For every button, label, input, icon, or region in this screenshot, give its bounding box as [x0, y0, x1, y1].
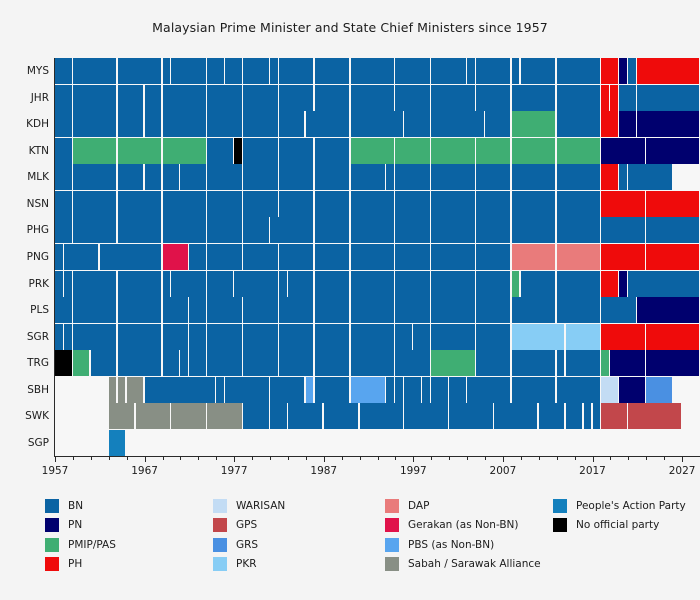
timeline-segment[interactable] — [386, 377, 394, 403]
timeline-segment[interactable] — [512, 58, 520, 84]
timeline-segment[interactable] — [646, 350, 698, 376]
timeline-segment[interactable] — [189, 350, 206, 376]
timeline-segment[interactable] — [163, 164, 180, 190]
timeline-segment[interactable] — [521, 58, 555, 84]
timeline-row-png — [55, 244, 700, 270]
y-axis-tick-label-mlk: MLK — [0, 164, 49, 190]
timeline-segment[interactable] — [207, 297, 241, 323]
timeline-segment[interactable] — [476, 350, 510, 376]
timeline-segment[interactable] — [476, 58, 510, 84]
timeline-segment[interactable] — [351, 297, 394, 323]
timeline-segment[interactable] — [243, 164, 277, 190]
timeline-segment[interactable] — [395, 297, 429, 323]
timeline-segment[interactable] — [73, 271, 116, 297]
timeline-segment[interactable] — [109, 403, 134, 429]
timeline-segment[interactable] — [395, 244, 429, 270]
legend-item[interactable]: PH — [45, 555, 116, 575]
timeline-segment[interactable] — [395, 138, 429, 164]
timeline-segment[interactable] — [315, 164, 349, 190]
timeline-segment[interactable] — [637, 58, 698, 84]
x-axis-minor-tick — [646, 457, 647, 460]
timeline-segment[interactable] — [163, 217, 206, 243]
legend-item[interactable]: WARISAN — [213, 496, 285, 516]
timeline-segment[interactable] — [315, 85, 349, 111]
timeline-segment[interactable] — [118, 191, 161, 217]
timeline-segment[interactable] — [207, 403, 241, 429]
timeline-segment[interactable] — [601, 271, 618, 297]
timeline-segment[interactable] — [163, 324, 188, 350]
timeline-segment[interactable] — [637, 111, 698, 137]
timeline-segment[interactable] — [163, 138, 206, 164]
timeline-segment[interactable] — [395, 377, 403, 403]
legend-item[interactable]: PMIP/PAS — [45, 535, 116, 555]
timeline-segment[interactable] — [351, 111, 403, 137]
timeline-segment[interactable] — [243, 217, 268, 243]
timeline-segment[interactable] — [145, 377, 215, 403]
timeline-segment[interactable] — [351, 58, 394, 84]
timeline-segment[interactable] — [601, 297, 635, 323]
timeline-segment[interactable] — [288, 403, 322, 429]
timeline-segment[interactable] — [539, 403, 564, 429]
timeline-segment[interactable] — [431, 217, 474, 243]
timeline-segment[interactable] — [395, 85, 429, 111]
timeline-segment[interactable] — [467, 377, 510, 403]
timeline-segment[interactable] — [234, 138, 242, 164]
timeline-segment[interactable] — [315, 271, 349, 297]
timeline-segment[interactable] — [145, 164, 162, 190]
timeline-segment[interactable] — [234, 271, 277, 297]
timeline-segment[interactable] — [485, 111, 510, 137]
legend-item[interactable]: Sabah / Sarawak Alliance — [385, 555, 541, 575]
timeline-segment[interactable] — [512, 191, 555, 217]
timeline-segment[interactable] — [494, 403, 537, 429]
timeline-segment[interactable] — [601, 350, 609, 376]
timeline-segment[interactable] — [431, 297, 474, 323]
timeline-segment[interactable] — [64, 271, 72, 297]
timeline-segment[interactable] — [306, 377, 314, 403]
timeline-segment[interactable] — [646, 377, 671, 403]
timeline-segment[interactable] — [619, 58, 627, 84]
timeline-segment[interactable] — [646, 217, 698, 243]
timeline-segment[interactable] — [55, 111, 72, 137]
legend-item-label: PKR — [236, 558, 257, 570]
timeline-segment[interactable] — [476, 191, 510, 217]
timeline-segment[interactable] — [557, 164, 600, 190]
timeline-segment[interactable] — [118, 164, 143, 190]
timeline-segment[interactable] — [55, 164, 72, 190]
timeline-segment[interactable] — [163, 85, 206, 111]
timeline-segment[interactable] — [512, 297, 555, 323]
timeline-segment[interactable] — [386, 164, 394, 190]
timeline-segment[interactable] — [315, 244, 349, 270]
timeline-segment[interactable] — [584, 403, 592, 429]
timeline-segment[interactable] — [180, 350, 188, 376]
timeline-segment[interactable] — [279, 350, 313, 376]
timeline-segment[interactable] — [601, 377, 618, 403]
timeline-segment[interactable] — [467, 58, 475, 84]
timeline-segment[interactable] — [512, 85, 555, 111]
timeline-segment[interactable] — [315, 191, 349, 217]
timeline-segment[interactable] — [637, 297, 698, 323]
timeline-segment[interactable] — [118, 138, 161, 164]
timeline-segment[interactable] — [619, 377, 644, 403]
timeline-segment[interactable] — [279, 58, 313, 84]
legend-item[interactable]: BN — [45, 496, 116, 516]
timeline-segment[interactable] — [431, 164, 474, 190]
timeline-segment[interactable] — [431, 350, 474, 376]
timeline-segment[interactable] — [557, 244, 600, 270]
timeline-segment[interactable] — [207, 111, 241, 137]
legend-item[interactable]: GRS — [213, 535, 285, 555]
timeline-segment[interactable] — [118, 324, 161, 350]
timeline-segment[interactable] — [279, 138, 313, 164]
timeline-segment[interactable] — [315, 58, 349, 84]
timeline-segment[interactable] — [118, 111, 143, 137]
timeline-segment[interactable] — [118, 217, 161, 243]
timeline-segment[interactable] — [73, 138, 116, 164]
timeline-segment[interactable] — [646, 244, 698, 270]
timeline-segment[interactable] — [118, 58, 161, 84]
timeline-segment[interactable] — [91, 350, 116, 376]
timeline-segment[interactable] — [646, 191, 698, 217]
timeline-segment[interactable] — [279, 297, 313, 323]
timeline-segment[interactable] — [243, 324, 277, 350]
timeline-segment[interactable] — [55, 138, 72, 164]
timeline-segment[interactable] — [476, 85, 510, 111]
timeline-segment[interactable] — [163, 297, 188, 323]
timeline-segment[interactable] — [279, 111, 304, 137]
timeline-segment[interactable] — [395, 217, 429, 243]
timeline-segment[interactable] — [476, 138, 510, 164]
timeline-segment[interactable] — [557, 350, 565, 376]
legend-item-label: DAP — [408, 500, 429, 512]
x-axis-minor-tick — [557, 457, 558, 460]
timeline-segment[interactable] — [171, 403, 205, 429]
timeline-segment[interactable] — [279, 271, 287, 297]
legend-item-label: People's Action Party — [576, 500, 686, 512]
timeline-segment[interactable] — [601, 244, 644, 270]
timeline-segment[interactable] — [601, 324, 644, 350]
x-axis-minor-tick — [628, 457, 629, 460]
timeline-segment[interactable] — [127, 377, 144, 403]
timeline-segment[interactable] — [73, 350, 90, 376]
x-axis-minor-tick — [306, 457, 307, 460]
x-axis-tick-label: 1967 — [131, 465, 158, 477]
timeline-segment[interactable] — [601, 111, 618, 137]
timeline-segment[interactable] — [55, 217, 72, 243]
timeline-segment[interactable] — [207, 350, 241, 376]
timeline-segment[interactable] — [395, 164, 429, 190]
timeline-segment[interactable] — [73, 217, 116, 243]
legend-item[interactable]: Gerakan (as Non-BN) — [385, 516, 541, 536]
timeline-segment[interactable] — [189, 324, 206, 350]
timeline-segment[interactable] — [449, 403, 492, 429]
timeline-segment[interactable] — [512, 324, 564, 350]
timeline-segment[interactable] — [395, 271, 429, 297]
timeline-segment[interactable] — [118, 271, 161, 297]
timeline-segment[interactable] — [512, 350, 555, 376]
timeline-segment[interactable] — [557, 271, 600, 297]
timeline-segment[interactable] — [476, 244, 510, 270]
timeline-segment[interactable] — [243, 191, 277, 217]
timeline-segment[interactable] — [619, 164, 627, 190]
timeline-segment[interactable] — [243, 138, 277, 164]
timeline-segment[interactable] — [566, 403, 583, 429]
timeline-segment[interactable] — [118, 377, 126, 403]
timeline-segment[interactable] — [163, 244, 188, 270]
timeline-segment[interactable] — [55, 85, 72, 111]
timeline-segment[interactable] — [324, 403, 358, 429]
timeline-row-nsn — [55, 191, 700, 217]
timeline-segment[interactable] — [315, 324, 349, 350]
timeline-segment[interactable] — [315, 377, 349, 403]
timeline-segment[interactable] — [145, 85, 162, 111]
timeline-segment[interactable] — [315, 217, 349, 243]
timeline-segment[interactable] — [171, 271, 205, 297]
timeline-segment[interactable] — [601, 403, 626, 429]
timeline-segment[interactable] — [64, 244, 98, 270]
timeline-segment[interactable] — [351, 217, 394, 243]
timeline-segment[interactable] — [601, 217, 644, 243]
timeline-segment[interactable] — [637, 85, 698, 111]
timeline-segment[interactable] — [55, 324, 63, 350]
timeline-segment[interactable] — [512, 271, 520, 297]
timeline-segment[interactable] — [351, 377, 385, 403]
timeline-segment[interactable] — [243, 244, 277, 270]
timeline-segment[interactable] — [243, 403, 268, 429]
timeline-segment[interactable] — [431, 191, 474, 217]
timeline-segment[interactable] — [404, 377, 421, 403]
timeline-segment[interactable] — [646, 324, 698, 350]
timeline-segment[interactable] — [566, 350, 600, 376]
timeline-segment[interactable] — [64, 324, 72, 350]
timeline-segment[interactable] — [55, 191, 72, 217]
timeline-segment[interactable] — [207, 164, 241, 190]
timeline-segment[interactable] — [315, 138, 349, 164]
timeline-segment[interactable] — [601, 164, 618, 190]
timeline-segment[interactable] — [163, 58, 171, 84]
timeline-segment[interactable] — [207, 217, 241, 243]
timeline-segment[interactable] — [279, 191, 313, 217]
timeline-segment[interactable] — [225, 377, 268, 403]
timeline-segment[interactable] — [351, 271, 394, 297]
timeline-segment[interactable] — [431, 377, 448, 403]
timeline-segment[interactable] — [557, 58, 600, 84]
timeline-segment[interactable] — [207, 191, 241, 217]
timeline-segment[interactable] — [395, 324, 412, 350]
timeline-segment[interactable] — [476, 297, 510, 323]
timeline-segment[interactable] — [145, 111, 162, 137]
timeline-segment[interactable] — [118, 85, 143, 111]
legend-color-swatch-icon — [45, 538, 59, 552]
timeline-segment[interactable] — [512, 377, 555, 403]
timeline-segment[interactable] — [557, 217, 600, 243]
timeline-segment[interactable] — [351, 324, 394, 350]
timeline-segment[interactable] — [413, 324, 430, 350]
timeline-segment[interactable] — [395, 350, 429, 376]
timeline-segment[interactable] — [628, 164, 671, 190]
timeline-segment[interactable] — [225, 58, 242, 84]
timeline-segment[interactable] — [315, 350, 349, 376]
timeline-segment[interactable] — [243, 350, 277, 376]
timeline-segment[interactable] — [270, 377, 304, 403]
timeline-segment[interactable] — [601, 191, 644, 217]
timeline-segment[interactable] — [279, 244, 313, 270]
timeline-segment[interactable] — [243, 85, 277, 111]
timeline-segment[interactable] — [628, 403, 680, 429]
timeline-segment[interactable] — [628, 58, 636, 84]
timeline-segment[interactable] — [646, 138, 698, 164]
timeline-segment[interactable] — [557, 191, 600, 217]
timeline-segment[interactable] — [593, 403, 601, 429]
timeline-segment[interactable] — [512, 217, 555, 243]
timeline-segment[interactable] — [315, 297, 349, 323]
timeline-segment[interactable] — [73, 164, 116, 190]
timeline-segment[interactable] — [557, 377, 600, 403]
y-axis-tick-label-nsn: NSN — [0, 191, 49, 217]
timeline-segment[interactable] — [55, 271, 63, 297]
legend-item[interactable]: DAP — [385, 496, 541, 516]
legend-item[interactable]: PN — [45, 516, 116, 536]
timeline-segment[interactable] — [512, 138, 555, 164]
timeline-segment[interactable] — [73, 297, 116, 323]
timeline-segment[interactable] — [601, 138, 644, 164]
timeline-segment[interactable] — [610, 85, 618, 111]
timeline-segment[interactable] — [431, 244, 474, 270]
timeline-segment[interactable] — [288, 271, 313, 297]
timeline-segment[interactable] — [449, 377, 466, 403]
timeline-segment[interactable] — [163, 111, 206, 137]
timeline-segment[interactable] — [55, 297, 72, 323]
timeline-segment[interactable] — [216, 377, 224, 403]
timeline-segment[interactable] — [351, 85, 394, 111]
legend-color-swatch-icon — [213, 538, 227, 552]
timeline-segment[interactable] — [109, 377, 117, 403]
y-axis-tick-label-prk: PRK — [0, 271, 49, 297]
timeline-segment[interactable] — [73, 58, 116, 84]
timeline-segment[interactable] — [243, 111, 277, 137]
timeline-segment[interactable] — [395, 58, 429, 84]
legend-item-label: WARISAN — [236, 500, 285, 512]
timeline-segment[interactable] — [109, 430, 126, 456]
timeline-segment[interactable] — [73, 191, 116, 217]
timeline-segment[interactable] — [512, 164, 555, 190]
timeline-segment[interactable] — [163, 191, 206, 217]
timeline-segment[interactable] — [207, 324, 241, 350]
timeline-segment[interactable] — [431, 111, 483, 137]
timeline-segment[interactable] — [360, 403, 403, 429]
timeline-segment[interactable] — [476, 324, 510, 350]
timeline-segment[interactable] — [566, 324, 600, 350]
timeline-segment[interactable] — [431, 271, 474, 297]
legend-item[interactable]: PKR — [213, 555, 285, 575]
timeline-segment[interactable] — [100, 244, 161, 270]
legend-column-2: WARISANGPSGRSPKR — [213, 496, 285, 574]
timeline-segment[interactable] — [207, 244, 241, 270]
timeline-segment[interactable] — [73, 111, 116, 137]
timeline-segment[interactable] — [207, 138, 232, 164]
timeline-segment[interactable] — [601, 58, 618, 84]
timeline-segment[interactable] — [619, 85, 636, 111]
timeline-segment[interactable] — [118, 350, 161, 376]
timeline-segment[interactable] — [189, 244, 206, 270]
timeline-segment[interactable] — [610, 350, 644, 376]
timeline-segment[interactable] — [476, 271, 510, 297]
timeline-segment[interactable] — [55, 350, 72, 376]
legend-item[interactable]: No official party — [553, 516, 686, 536]
timeline-segment[interactable] — [351, 244, 394, 270]
timeline-segment[interactable] — [351, 350, 394, 376]
timeline-segment[interactable] — [404, 111, 429, 137]
timeline-segment[interactable] — [557, 111, 600, 137]
timeline-segment[interactable] — [118, 297, 161, 323]
timeline-segment[interactable] — [557, 297, 600, 323]
y-axis-tick-label-trg: TRG — [0, 350, 49, 376]
timeline-segment[interactable] — [476, 217, 510, 243]
legend-color-swatch-icon — [385, 499, 399, 513]
timeline-segment[interactable] — [476, 164, 510, 190]
timeline-segment[interactable] — [243, 297, 277, 323]
timeline-segment[interactable] — [431, 58, 465, 84]
timeline-segment[interactable] — [521, 271, 555, 297]
timeline-segment[interactable] — [512, 244, 555, 270]
timeline-segment[interactable] — [171, 58, 205, 84]
timeline-segment[interactable] — [601, 85, 609, 111]
timeline-segment[interactable] — [628, 271, 698, 297]
timeline-segment[interactable] — [557, 85, 600, 111]
timeline-segment[interactable] — [73, 85, 116, 111]
timeline-segment[interactable] — [351, 138, 394, 164]
timeline-segment[interactable] — [306, 111, 349, 137]
legend-item[interactable]: PBS (as Non-BN) — [385, 535, 541, 555]
timeline-segment[interactable] — [270, 403, 287, 429]
timeline-segment[interactable] — [243, 58, 268, 84]
timeline-segment[interactable] — [557, 138, 600, 164]
timeline-segment[interactable] — [207, 58, 224, 84]
timeline-segment[interactable] — [55, 244, 63, 270]
timeline-segment[interactable] — [270, 58, 278, 84]
timeline-segment[interactable] — [279, 324, 313, 350]
timeline-segment[interactable] — [619, 271, 627, 297]
timeline-segment[interactable] — [189, 297, 206, 323]
x-axis-tick-label: 1987 — [310, 465, 337, 477]
timeline-segment[interactable] — [163, 271, 171, 297]
timeline-segment[interactable] — [270, 217, 313, 243]
timeline-segment[interactable] — [431, 85, 474, 111]
timeline-segment[interactable] — [180, 164, 205, 190]
timeline-segment[interactable] — [351, 164, 385, 190]
timeline-segment[interactable] — [279, 85, 313, 111]
timeline-segment[interactable] — [73, 324, 116, 350]
legend-item[interactable]: GPS — [213, 516, 285, 536]
timeline-segment[interactable] — [279, 164, 313, 190]
timeline-segment[interactable] — [351, 191, 394, 217]
timeline-segment[interactable] — [431, 324, 474, 350]
timeline-segment[interactable] — [422, 377, 430, 403]
timeline-segment[interactable] — [512, 111, 555, 137]
legend-item[interactable]: People's Action Party — [553, 496, 686, 516]
timeline-segment[interactable] — [404, 403, 447, 429]
timeline-segment[interactable] — [431, 138, 474, 164]
timeline-segment[interactable] — [207, 271, 232, 297]
timeline-segment[interactable] — [395, 191, 429, 217]
timeline-segment[interactable] — [207, 85, 241, 111]
timeline-segment[interactable] — [136, 403, 170, 429]
timeline-row-sbh — [55, 377, 700, 403]
timeline-segment[interactable] — [163, 350, 180, 376]
timeline-segment[interactable] — [619, 111, 636, 137]
timeline-segment[interactable] — [55, 58, 72, 84]
